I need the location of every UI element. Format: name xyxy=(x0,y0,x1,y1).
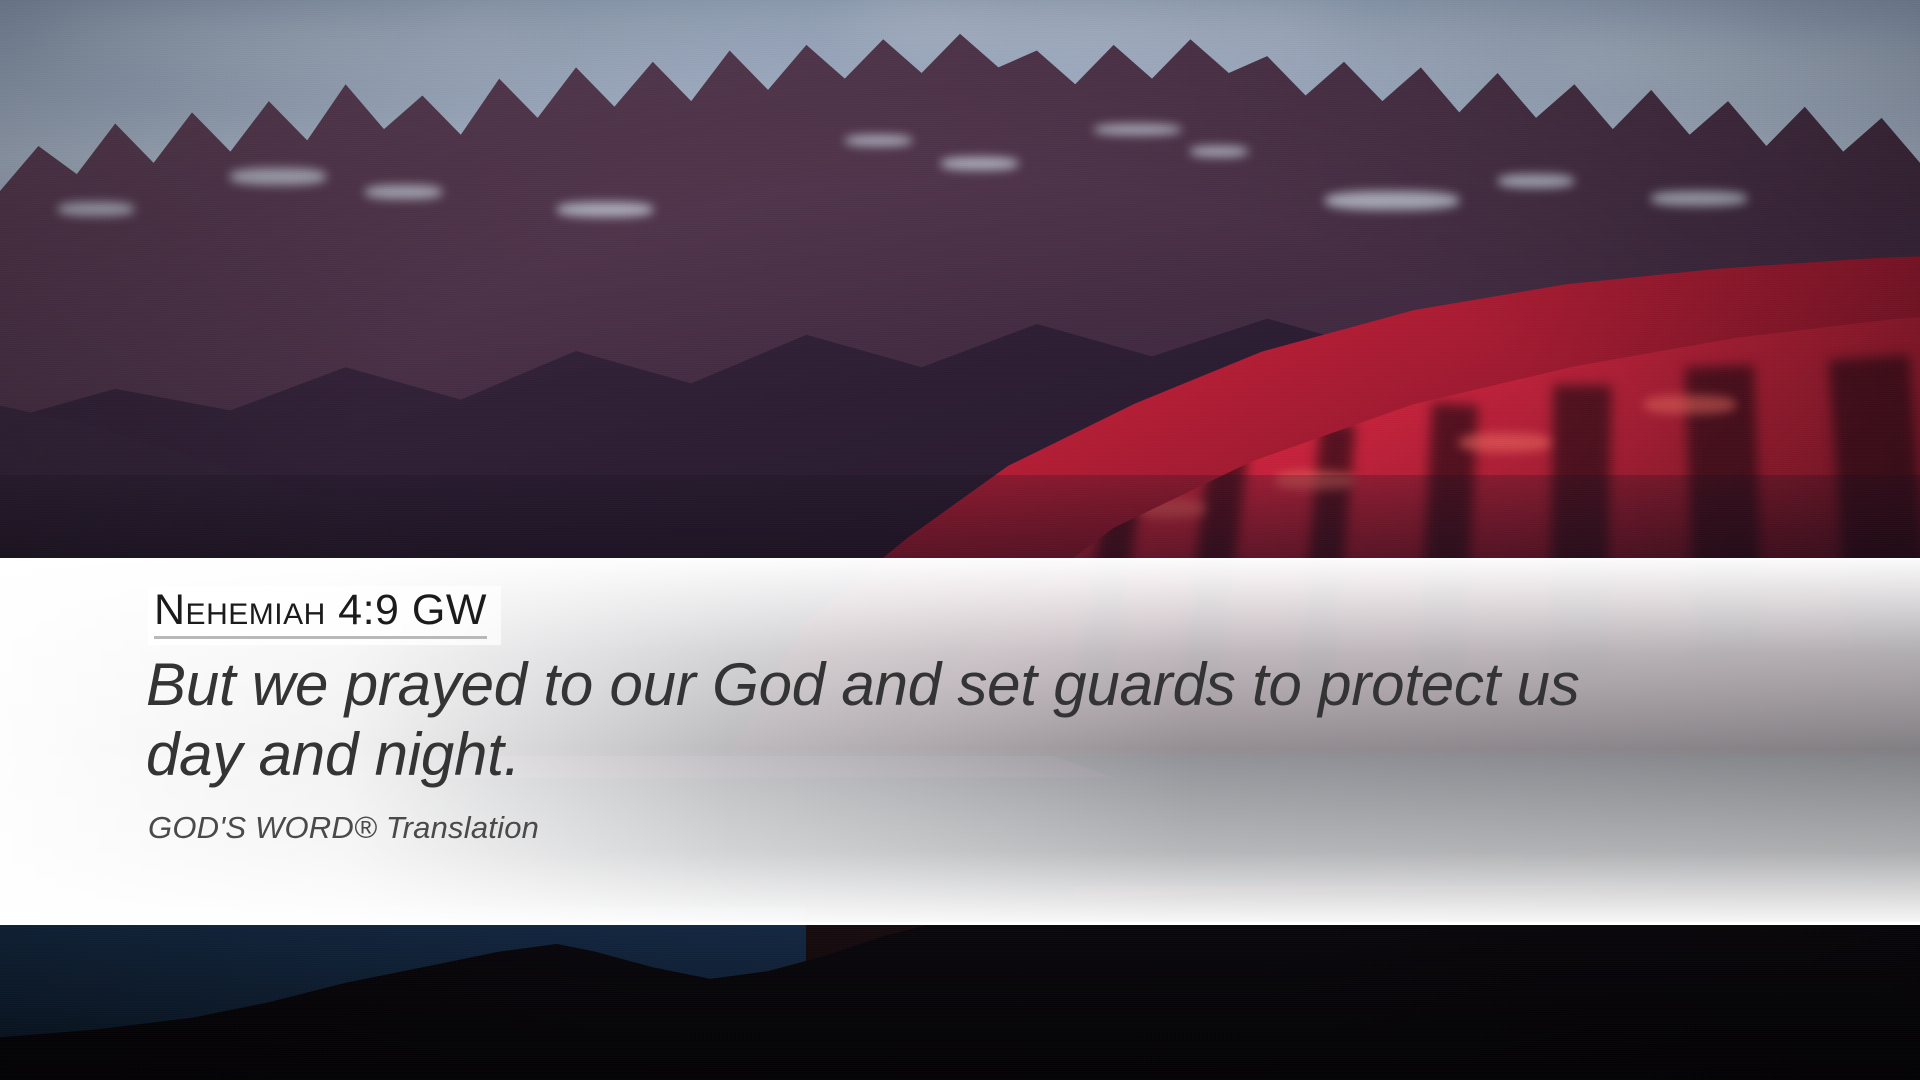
scripture-reference: Nehemiah 4:9 GW xyxy=(154,588,487,634)
verse-text-band: Nehemiah 4:9 GW But we prayed to our God… xyxy=(0,558,1920,925)
verse-line-2: day and night. xyxy=(146,720,1806,790)
verse-image-canvas: Nehemiah 4:9 GW But we prayed to our God… xyxy=(0,0,1920,1080)
reference-underline-rule xyxy=(154,636,487,639)
translation-attribution: GOD'S WORD® Translation xyxy=(148,810,539,846)
verse-text: But we prayed to our God and set guards … xyxy=(146,650,1806,789)
verse-line-1: But we prayed to our God and set guards … xyxy=(146,650,1806,720)
scripture-reference-block: Nehemiah 4:9 GW xyxy=(148,586,501,645)
